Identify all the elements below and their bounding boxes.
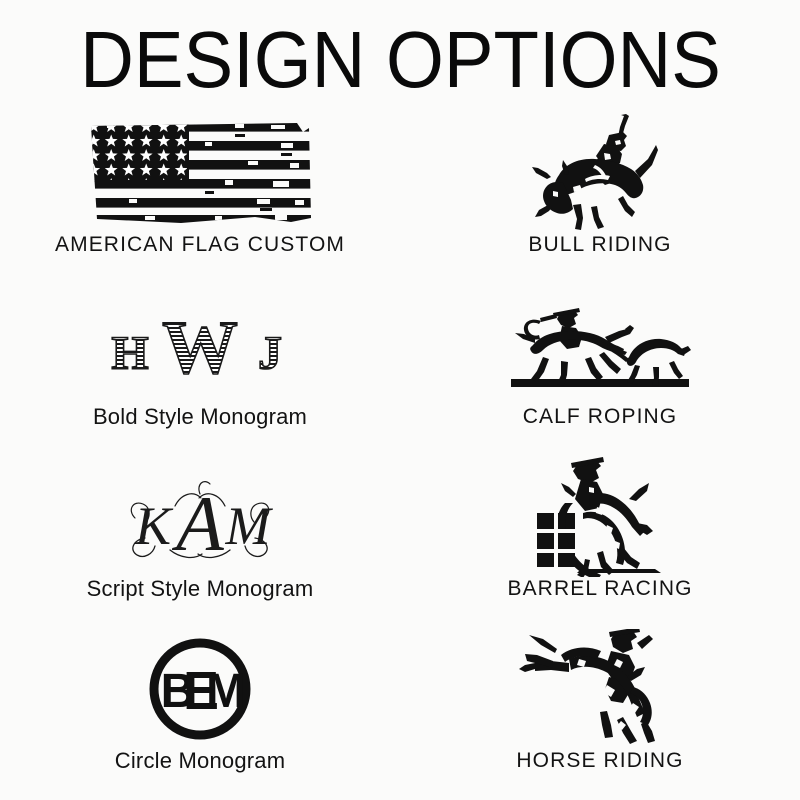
page-title-text: DESIGN OPTIONS	[80, 20, 721, 100]
calf-roping-silhouette-icon	[400, 284, 800, 406]
distressed-american-flag-icon	[0, 112, 400, 234]
bold-monogram-icon: H W J	[0, 284, 400, 406]
design-option-label: Script Style Monogram	[87, 578, 314, 600]
design-options-grid: AMERICAN FLAG CUSTOM	[0, 112, 800, 800]
design-option-horse-riding[interactable]: HORSE RIDING	[400, 628, 800, 800]
design-option-circle-monogram[interactable]: B E M Circle Monogram	[0, 628, 400, 800]
design-option-calf-roping[interactable]: CALF ROPING	[400, 284, 800, 456]
bucking-horse-silhouette-icon	[400, 628, 800, 750]
circle-monogram-icon: B E M	[0, 628, 400, 750]
design-option-bold-style-monogram[interactable]: H W J Bold Style Monogram	[0, 284, 400, 456]
svg-text:A: A	[171, 480, 224, 567]
design-option-label: BULL RIDING	[528, 234, 671, 255]
design-option-label: BARREL RACING	[507, 578, 692, 599]
design-option-label: Bold Style Monogram	[93, 406, 307, 428]
svg-text:W: W	[162, 306, 238, 387]
design-option-label: AMERICAN FLAG CUSTOM	[55, 234, 345, 255]
svg-text:K: K	[134, 496, 174, 556]
design-option-american-flag-custom[interactable]: AMERICAN FLAG CUSTOM	[0, 112, 400, 284]
design-option-label: HORSE RIDING	[516, 750, 683, 771]
design-option-bull-riding[interactable]: BULL RIDING	[400, 112, 800, 284]
design-option-barrel-racing[interactable]: BARREL RACING	[400, 456, 800, 628]
design-options-page: DESIGN OPTIONS	[0, 0, 800, 800]
design-option-label: Circle Monogram	[115, 750, 286, 772]
svg-text:H: H	[111, 327, 148, 380]
page-title: DESIGN OPTIONS	[0, 10, 800, 110]
design-option-script-style-monogram[interactable]: K A M Script Style Monogram	[0, 456, 400, 628]
bull-riding-silhouette-icon	[400, 112, 800, 234]
barrel-racing-silhouette-icon	[400, 456, 800, 578]
design-option-label: CALF ROPING	[523, 406, 677, 427]
script-monogram-icon: K A M	[0, 456, 400, 578]
svg-text:J: J	[258, 327, 282, 380]
svg-text:M: M	[206, 665, 246, 718]
